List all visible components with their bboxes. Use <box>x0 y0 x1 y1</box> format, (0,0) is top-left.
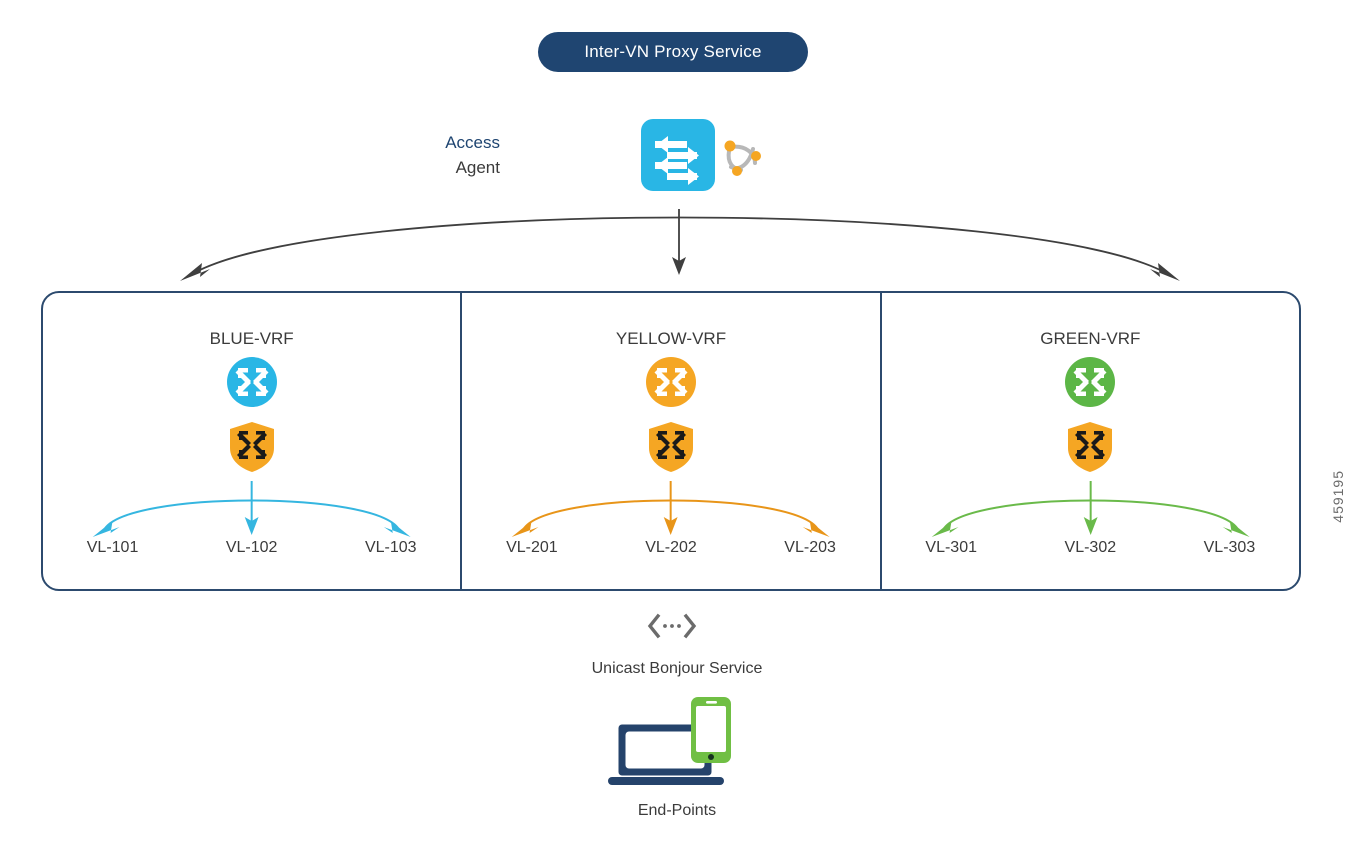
bidirectional-dots-icon <box>646 612 698 640</box>
vrf-container: BLUE-VRF <box>41 291 1301 591</box>
vrf-fanout-arrows-blue <box>43 477 460 539</box>
bidirectional-switch-icon <box>641 119 715 191</box>
vlan-label: VL-101 <box>43 539 182 567</box>
shield-arrows-icon <box>1066 421 1114 473</box>
access-agent-label-line1: Access <box>325 130 500 155</box>
collapse-arrows-icon <box>1065 357 1115 407</box>
page-title-pill: Inter-VN Proxy Service <box>538 32 808 72</box>
vrf-column-yellow[interactable]: YELLOW-VRF <box>460 293 879 589</box>
vrf-column-green[interactable]: GREEN-VRF <box>880 293 1299 589</box>
access-agent-label-line2: Agent <box>325 155 500 180</box>
vlan-labels-yellow: VL-201 VL-202 VL-203 <box>462 539 879 567</box>
shield-arrows-icon <box>647 421 695 473</box>
vlan-label: VL-102 <box>182 539 321 567</box>
vlan-label: VL-303 <box>1160 539 1299 567</box>
vrf-fanout-arrows-green <box>882 477 1299 539</box>
vrf-title-green: GREEN-VRF <box>882 329 1299 349</box>
vrf-title-blue: BLUE-VRF <box>43 329 460 349</box>
access-agent-icon-group <box>641 119 766 191</box>
vlan-label: VL-103 <box>321 539 460 567</box>
vlan-label: VL-201 <box>462 539 601 567</box>
collapse-arrows-icon <box>227 357 277 407</box>
vlan-labels-blue: VL-101 VL-102 VL-103 <box>43 539 460 567</box>
collapse-arrows-icon <box>646 357 696 407</box>
vrf-column-blue[interactable]: BLUE-VRF <box>43 293 460 589</box>
network-nodes-icon <box>719 135 765 181</box>
vlan-labels-green: VL-301 VL-302 VL-303 <box>882 539 1299 567</box>
vrf-title-yellow: YELLOW-VRF <box>462 329 879 349</box>
endpoints-label: End-Points <box>0 802 1354 820</box>
figure-number: 459195 <box>1330 470 1346 523</box>
agent-to-vrf-arrows <box>150 185 1210 295</box>
shield-arrows-icon <box>228 421 276 473</box>
page-title: Inter-VN Proxy Service <box>584 42 761 62</box>
vrf-fanout-arrows-yellow <box>462 477 879 539</box>
vlan-label: VL-203 <box>741 539 880 567</box>
vlan-label: VL-302 <box>1021 539 1160 567</box>
access-agent-label: Access Agent <box>325 130 500 180</box>
bonjour-service-label: Unicast Bonjour Service <box>0 660 1354 678</box>
vlan-label: VL-202 <box>601 539 740 567</box>
vlan-label: VL-301 <box>882 539 1021 567</box>
laptop-phone-icon <box>596 695 746 790</box>
